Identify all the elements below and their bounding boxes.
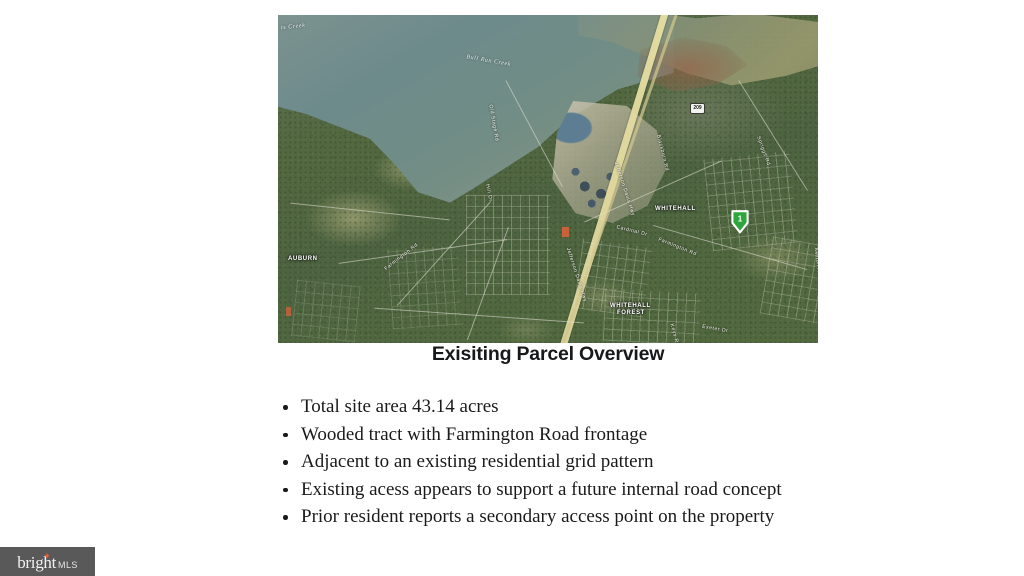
list-item-text: Prior resident reports a secondary acces… <box>301 506 774 527</box>
parcel-details-list: Total site area 43.14 acres Wooded tract… <box>282 396 922 534</box>
list-item: Prior resident reports a secondary acces… <box>282 506 922 528</box>
watermark-star-icon: ✦ <box>43 552 51 561</box>
list-item-text: Adjacent to an existing residential grid… <box>301 451 653 472</box>
parcel-map-figure: 209 AUBURN WHITEHALL WHITEHALL FOREST ts… <box>278 15 818 343</box>
watermark-mls-text: MLS <box>58 561 78 570</box>
property-location-marker-icon[interactable]: 1 <box>730 209 750 235</box>
bullet-point-icon <box>283 460 288 465</box>
highway-route-shield: 209 <box>690 103 705 114</box>
list-item-text: Wooded tract with Farmington Road fronta… <box>301 424 647 445</box>
map-neighborhood-grid-1 <box>466 195 550 295</box>
list-item: Adjacent to an existing residential grid… <box>282 451 922 473</box>
satellite-map-image[interactable]: 209 AUBURN WHITEHALL WHITEHALL FOREST ts… <box>278 15 818 343</box>
map-neighborhood-grid-3 <box>703 151 798 251</box>
list-item: Wooded tract with Farmington Road fronta… <box>282 424 922 446</box>
figure-caption: Exisiting Parcel Overview <box>278 343 818 366</box>
list-item-text: Total site area 43.14 acres <box>301 396 499 417</box>
map-neighborhood-grid-4 <box>603 289 702 343</box>
list-item: Total site area 43.14 acres <box>282 396 922 418</box>
bullet-point-icon <box>283 488 288 493</box>
map-neighborhood-grid-7 <box>291 280 361 342</box>
map-parcel-highlight <box>562 227 569 237</box>
map-parcel-highlight <box>286 307 291 316</box>
watermark-lockup: bright ✦ MLS <box>17 554 78 571</box>
bright-mls-watermark: bright ✦ MLS <box>0 547 95 576</box>
marker-label: 1 <box>738 215 743 224</box>
map-neighborhood-grid-6 <box>387 245 462 330</box>
list-item: Existing acess appears to support a futu… <box>282 479 922 501</box>
list-item-text: Existing acess appears to support a futu… <box>301 479 782 500</box>
bullet-point-icon <box>283 433 288 438</box>
bullet-point-icon <box>283 405 288 410</box>
bullet-point-icon <box>283 515 288 520</box>
